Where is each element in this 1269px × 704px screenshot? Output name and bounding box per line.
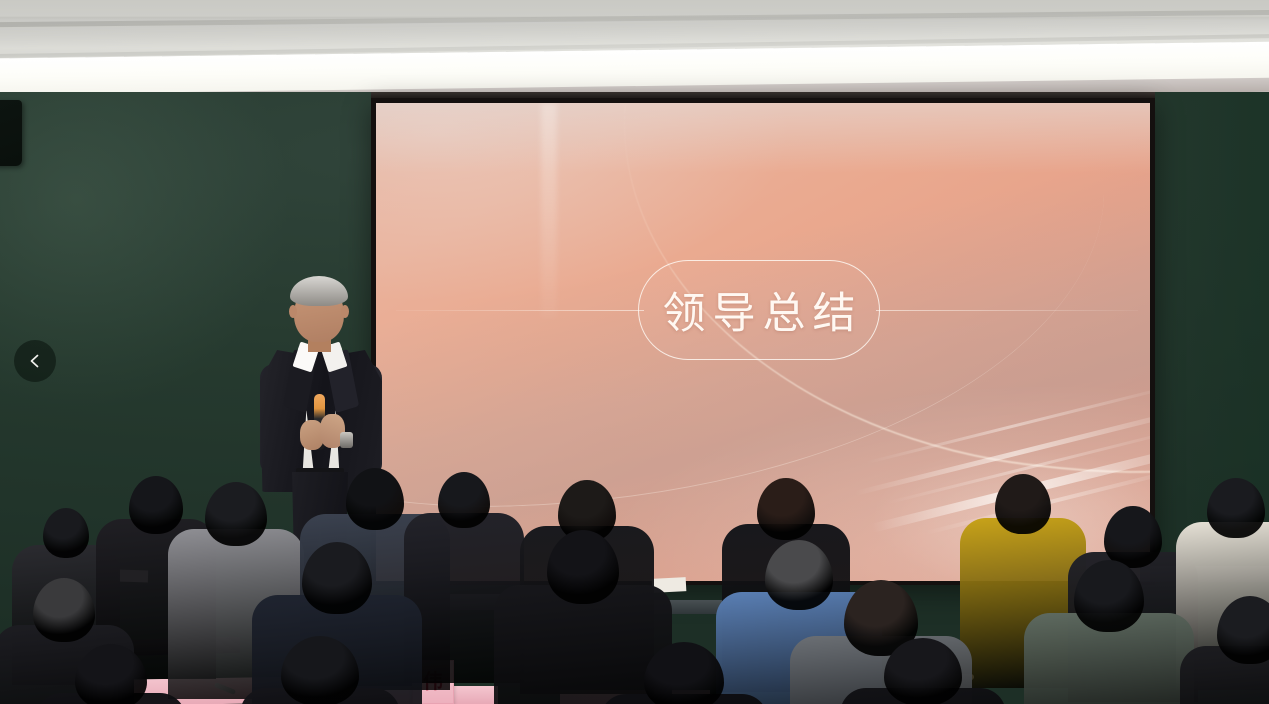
presenter-ear-left [289,305,297,318]
wall-speaker [0,100,22,166]
audience-member-head [33,578,95,642]
audience-member-head [75,644,147,704]
audience-member [600,642,768,704]
slide-divider-right [876,310,1138,311]
slide-title-pill: 领导总结 [638,260,880,360]
audience-member-head [302,542,372,614]
audience-member [240,636,400,704]
audience-member-head [1104,506,1162,568]
audience-member [36,644,186,704]
audience-member [1180,596,1269,704]
audience-member-head [281,636,359,704]
audience-member-head [1074,560,1144,632]
slide-title: 领导总结 [656,279,863,341]
audience-member-head [1207,478,1265,538]
audience-member-head [547,530,619,604]
audience-member-head [43,508,89,558]
prev-image-button[interactable] [14,340,56,382]
audience-member-head [644,642,724,704]
audience-member-head [438,472,490,528]
audience [0,430,1269,704]
audience-member [840,638,1006,704]
chevron-right-icon [1226,353,1242,369]
audience-member [1024,560,1194,704]
chevron-left-icon [27,353,43,369]
audience-member-head [346,468,404,530]
presenter-hair [290,276,348,306]
audience-member-head [757,478,815,540]
slide-divider-left [396,310,644,311]
photo-stage: 领导总结 伟 [0,0,1269,704]
audience-member-head [1217,596,1269,664]
audience-member-head [884,638,962,704]
audience-member-head [995,474,1051,534]
presenter-ear-right [341,305,349,318]
ceiling-seam-upper [0,9,1269,27]
audience-member-head [205,482,267,546]
